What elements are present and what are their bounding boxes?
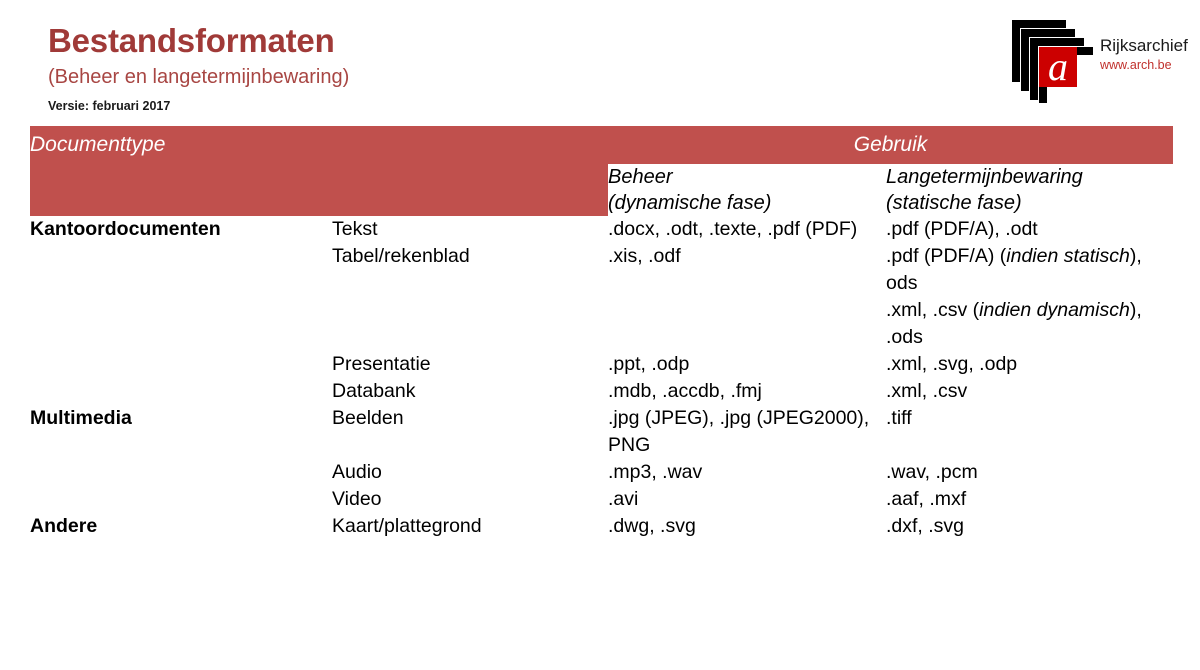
cell-beheer: .mp3, .wav (608, 459, 886, 486)
cell-langetermijn: .xml, .csv (886, 378, 1173, 405)
column-header-beheer-line1: Beheer (608, 164, 886, 190)
cell-langetermijn-emphasis: indien dynamisch (979, 299, 1130, 321)
subheader-empty-cell (30, 164, 608, 216)
page-title: Bestandsformaten (48, 22, 349, 60)
cell-beheer: .jpg (JPEG), .jpg (JPEG2000), PNG (608, 405, 886, 459)
cell-subtype: Kaart/plattegrond (332, 513, 608, 540)
column-header-documenttype: Documenttype (30, 126, 608, 164)
page-header: Bestandsformaten (Beheer en langetermijn… (0, 0, 1200, 120)
cell-beheer: .avi (608, 486, 886, 513)
cell-beheer: .mdb, .accdb, .fmj (608, 378, 886, 405)
table-row: Databank .mdb, .accdb, .fmj .xml, .csv (30, 378, 1173, 405)
table-row: Video .avi .aaf, .mxf (30, 486, 1173, 513)
table-subheader-row: Beheer (dynamische fase) Langetermijnbew… (30, 164, 1173, 216)
cell-documenttype (30, 486, 332, 513)
column-header-langetermijn-line2: (statische fase) (886, 190, 1173, 216)
cell-langetermijn-emphasis: indien statisch (1006, 245, 1130, 267)
file-formats-table: Documenttype Gebruik Beheer (dynamische … (30, 126, 1173, 540)
cell-beheer: .dwg, .svg (608, 513, 886, 540)
cell-subtype: Databank (332, 378, 608, 405)
cell-beheer: .ppt, .odp (608, 351, 886, 378)
cell-subtype: Audio (332, 459, 608, 486)
cell-langetermijn: .xml, .svg, .odp (886, 351, 1173, 378)
column-header-beheer: Beheer (dynamische fase) (608, 164, 886, 216)
cell-subtype: Video (332, 486, 608, 513)
logo-text-block: Rijksarchief www.arch.be (1100, 36, 1192, 73)
cell-documenttype (30, 297, 332, 351)
logo-website-url: www.arch.be (1100, 58, 1192, 73)
cell-langetermijn-prefix: .xml, .csv ( (886, 299, 979, 321)
table-row: Andere Kaart/plattegrond .dwg, .svg .dxf… (30, 513, 1173, 540)
column-header-beheer-line2: (dynamische fase) (608, 190, 886, 216)
cell-documenttype: Multimedia (30, 405, 332, 459)
cell-subtype (332, 297, 608, 351)
cell-subtype: Tekst (332, 216, 608, 243)
table-header-row: Documenttype Gebruik (30, 126, 1173, 164)
column-header-langetermijn: Langetermijnbewaring (statische fase) (886, 164, 1173, 216)
cell-subtype: Tabel/rekenblad (332, 243, 608, 297)
table-row: Tabel/rekenblad .xis, .odf .pdf (PDF/A) … (30, 243, 1173, 297)
version-label: Versie: februari 2017 (48, 99, 349, 113)
logo-organisation-name: Rijksarchief (1100, 36, 1192, 55)
cell-langetermijn: .pdf (PDF/A) (indien statisch), ods (886, 243, 1173, 297)
svg-text:a: a (1048, 44, 1068, 89)
cell-documenttype (30, 243, 332, 297)
archive-stack-icon: a (1008, 16, 1100, 104)
table-row: .xml, .csv (indien dynamisch), .ods (30, 297, 1173, 351)
cell-documenttype: Kantoordocumenten (30, 216, 332, 243)
column-header-gebruik: Gebruik (608, 126, 1173, 164)
rijksarchief-logo: a Rijksarchief www.arch.be (1008, 16, 1188, 108)
cell-beheer (608, 297, 886, 351)
column-header-langetermijn-line1: Langetermijnbewaring (886, 164, 1173, 190)
table-row: Multimedia Beelden .jpg (JPEG), .jpg (JP… (30, 405, 1173, 459)
cell-langetermijn: .pdf (PDF/A), .odt (886, 216, 1173, 243)
cell-langetermijn-prefix: .pdf (PDF/A) ( (886, 245, 1006, 267)
cell-subtype: Beelden (332, 405, 608, 459)
cell-langetermijn: .tiff (886, 405, 1173, 459)
cell-beheer: .xis, .odf (608, 243, 886, 297)
cell-langetermijn: .wav, .pcm (886, 459, 1173, 486)
table-row: Presentatie .ppt, .odp .xml, .svg, .odp (30, 351, 1173, 378)
cell-documenttype (30, 378, 332, 405)
cell-langetermijn: .aaf, .mxf (886, 486, 1173, 513)
cell-documenttype (30, 351, 332, 378)
cell-subtype: Presentatie (332, 351, 608, 378)
title-block: Bestandsformaten (Beheer en langetermijn… (48, 22, 349, 113)
cell-langetermijn: .dxf, .svg (886, 513, 1173, 540)
table-row: Audio .mp3, .wav .wav, .pcm (30, 459, 1173, 486)
cell-langetermijn: .xml, .csv (indien dynamisch), .ods (886, 297, 1173, 351)
table-row: Kantoordocumenten Tekst .docx, .odt, .te… (30, 216, 1173, 243)
cell-beheer: .docx, .odt, .texte, .pdf (PDF) (608, 216, 886, 243)
cell-documenttype (30, 459, 332, 486)
cell-documenttype: Andere (30, 513, 332, 540)
page-subtitle: (Beheer en langetermijnbewaring) (48, 64, 349, 90)
